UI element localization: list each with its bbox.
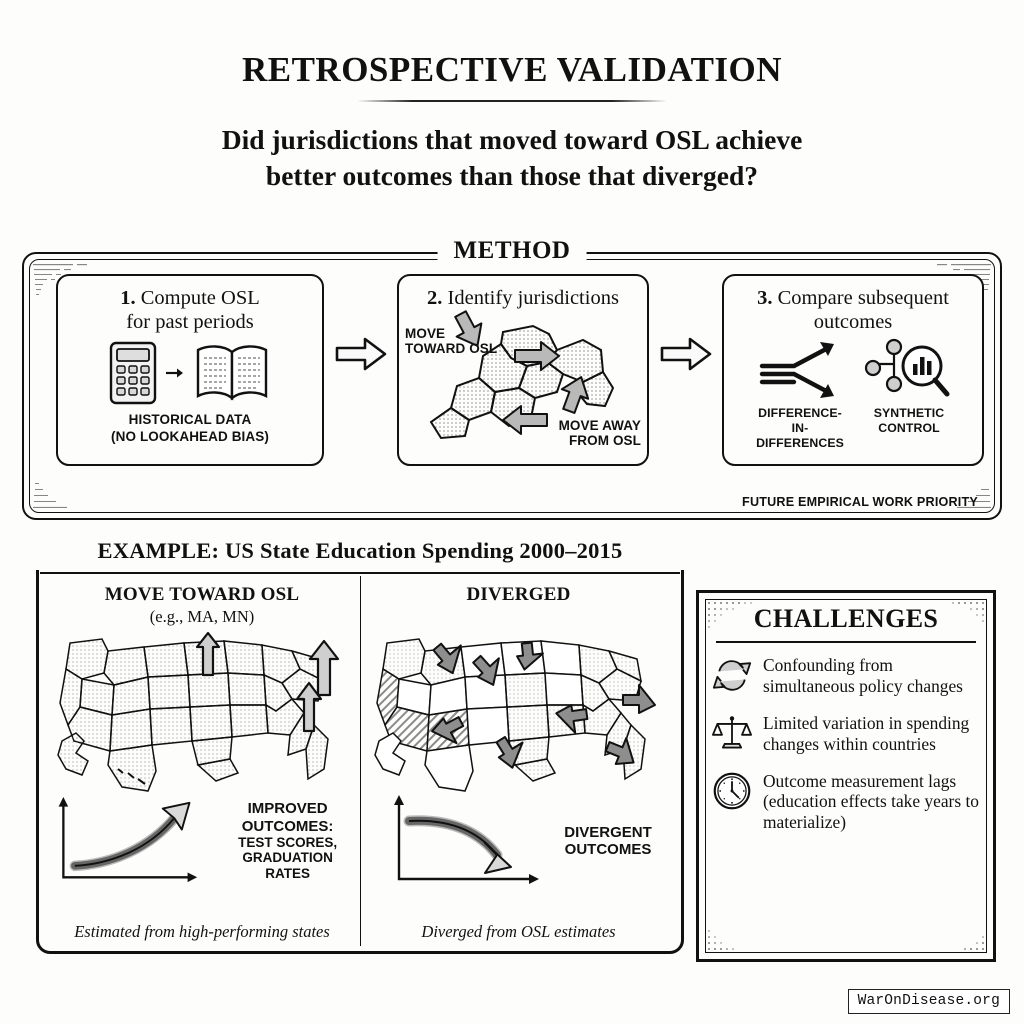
- step-3-number: 3.: [757, 287, 772, 309]
- method-section-label: METHOD: [438, 237, 587, 265]
- step-2-away-line-2: FROM OSL: [569, 433, 641, 448]
- challenges-section: CHALLENGES Confounding from simultaneous…: [696, 590, 996, 962]
- method-step-1: 1. Compute OSL for past periods: [56, 274, 324, 466]
- method-connector-2: [649, 336, 722, 372]
- step-2-number: 2.: [427, 287, 442, 309]
- example-left-subheading: (e.g., MA, MN): [150, 607, 255, 627]
- method-step-2: 2. Identify jurisdictions: [397, 274, 649, 466]
- rising-curve-arrow-icon: [50, 793, 217, 889]
- challenges-content: CHALLENGES Confounding from simultaneous…: [712, 604, 980, 952]
- example-right-footnote: Diverged from OSL estimates: [361, 922, 676, 942]
- challenge-item-2: Limited variation in spending changes wi…: [712, 713, 980, 755]
- challenge-text-1: Confounding from simultaneous policy cha…: [763, 655, 980, 697]
- example-column-toward-osl: MOVE TOWARD OSL (e.g., MA, MN): [44, 576, 360, 946]
- subtitle-line-2: better outcomes than those that diverged…: [266, 160, 758, 191]
- method-section: METHOD 1. Compute OSL for past periods: [22, 252, 1002, 520]
- open-book-icon: [192, 340, 272, 406]
- infographic-page: RETROSPECTIVE VALIDATION Did jurisdictio…: [0, 0, 1024, 1024]
- example-right-subheading: [516, 607, 520, 627]
- example-title-divider: [40, 572, 680, 574]
- step-3-method-a-line-1: DIFFERENCE-IN-: [758, 406, 842, 435]
- example-right-trend: DIVERGENT OUTCOMES: [385, 793, 652, 889]
- step-3-method-a-caption: DIFFERENCE-IN- DIFFERENCES: [751, 406, 849, 450]
- page-subtitle: Did jurisdictions that moved toward OSL …: [72, 122, 952, 195]
- example-left-trend-line-1: IMPROVED: [248, 800, 328, 817]
- step-1-caption-line-2: (NO LOOKAHEAD BIAS): [111, 429, 269, 444]
- challenge-text-3: Outcome measurement lags (education effe…: [763, 771, 980, 834]
- example-left-trend: IMPROVED OUTCOMES: TEST SCORES, GRADUATI…: [50, 793, 354, 889]
- example-left-footnote: Estimated from high-performing states: [44, 922, 360, 942]
- diverging-lines-icon: [754, 338, 846, 402]
- step-3-title-line-1: Compare subsequent: [778, 287, 949, 309]
- subtitle-line-1: Did jurisdictions that moved toward OSL …: [222, 124, 803, 155]
- page-title: RETROSPECTIVE VALIDATION: [0, 52, 1024, 87]
- step-3-method-a-line-2: DIFFERENCES: [756, 436, 844, 450]
- example-columns: MOVE TOWARD OSL (e.g., MA, MN): [44, 576, 676, 946]
- step-2-title: 2. Identify jurisdictions: [427, 286, 619, 310]
- challenges-divider: [716, 641, 976, 643]
- example-right-heading: DIVERGED: [466, 584, 570, 606]
- step-1-number: 1.: [120, 287, 135, 309]
- example-left-trend-label: IMPROVED OUTCOMES: TEST SCORES, GRADUATI…: [221, 800, 354, 881]
- step-1-caption: HISTORICAL DATA (NO LOOKAHEAD BIAS): [111, 412, 269, 444]
- challenges-title: CHALLENGES: [712, 604, 980, 634]
- synthetic-control-icon: [860, 338, 952, 402]
- example-left-heading: MOVE TOWARD OSL: [105, 584, 299, 606]
- step-2-away-line-1: MOVE AWAY: [559, 418, 641, 433]
- method-connector-1: [324, 336, 397, 372]
- step-1-title-line-2: for past periods: [126, 311, 254, 333]
- step-2-toward-line-1: MOVE: [405, 326, 445, 341]
- step-1-title-line-1: Compute OSL: [141, 287, 260, 309]
- example-left-trend-line-2: OUTCOMES:: [242, 818, 334, 835]
- example-left-trend-line-4: GRADUATION RATES: [242, 850, 333, 881]
- example-column-diverged: DIVERGED: [360, 576, 676, 946]
- step-2-map-area: MOVE TOWARD OSL MOVE AWAY FROM OSL: [407, 310, 639, 448]
- example-right-trend-label: DIVERGENT OUTCOMES: [564, 824, 652, 859]
- calculator-icon: [108, 340, 158, 406]
- example-title: EXAMPLE: US State Education Spending 200…: [36, 532, 684, 570]
- block-arrow-right-icon: [335, 336, 387, 372]
- example-section: EXAMPLE: US State Education Spending 200…: [36, 534, 684, 954]
- us-map-down-arrows-icon: [369, 629, 669, 797]
- step-3-captions: DIFFERENCE-IN- DIFFERENCES SYNTHETIC CON…: [751, 406, 955, 450]
- step-3-method-b-line-2: CONTROL: [878, 421, 940, 435]
- challenge-text-2: Limited variation in spending changes wi…: [763, 713, 980, 755]
- title-divider: [357, 100, 667, 102]
- cycle-arrows-icon: [712, 655, 752, 695]
- method-steps: 1. Compute OSL for past periods: [40, 274, 984, 504]
- step-2-toward-line-2: TOWARD OSL: [405, 341, 497, 356]
- us-map-up-arrows-icon: [52, 629, 352, 797]
- example-right-trend-line-2: OUTCOMES: [565, 841, 652, 858]
- example-right-trend-line-1: DIVERGENT: [564, 824, 652, 841]
- challenge-item-1: Confounding from simultaneous policy cha…: [712, 655, 980, 697]
- step-1-title: 1. Compute OSL for past periods: [120, 286, 260, 334]
- step-3-method-b-caption: SYNTHETIC CONTROL: [863, 406, 955, 450]
- step-2-annotation-toward: MOVE TOWARD OSL: [405, 326, 497, 356]
- method-footer-note: FUTURE EMPIRICAL WORK PRIORITY: [742, 495, 978, 509]
- step-3-title: 3. Compare subsequent outcomes: [757, 286, 949, 334]
- falling-curve-arrow-icon: [385, 793, 560, 889]
- watermark: WarOnDisease.org: [848, 989, 1010, 1014]
- example-left-trend-line-3: TEST SCORES,: [238, 835, 337, 850]
- challenge-item-3: Outcome measurement lags (education effe…: [712, 771, 980, 834]
- step-2-annotation-away: MOVE AWAY FROM OSL: [559, 418, 641, 448]
- step-3-title-line-2: outcomes: [814, 311, 893, 333]
- step-3-method-b-line-1: SYNTHETIC: [874, 406, 945, 420]
- clock-icon: [712, 771, 752, 811]
- block-arrow-right-icon: [660, 336, 712, 372]
- arrow-right-icon: [164, 363, 186, 383]
- step-1-icons: [108, 340, 272, 406]
- step-1-caption-line-1: HISTORICAL DATA: [129, 412, 252, 427]
- step-3-icons: [754, 338, 952, 402]
- step-2-title-line-1: Identify jurisdictions: [448, 287, 619, 309]
- balance-scales-icon: [712, 713, 752, 753]
- method-step-3: 3. Compare subsequent outcomes: [722, 274, 984, 466]
